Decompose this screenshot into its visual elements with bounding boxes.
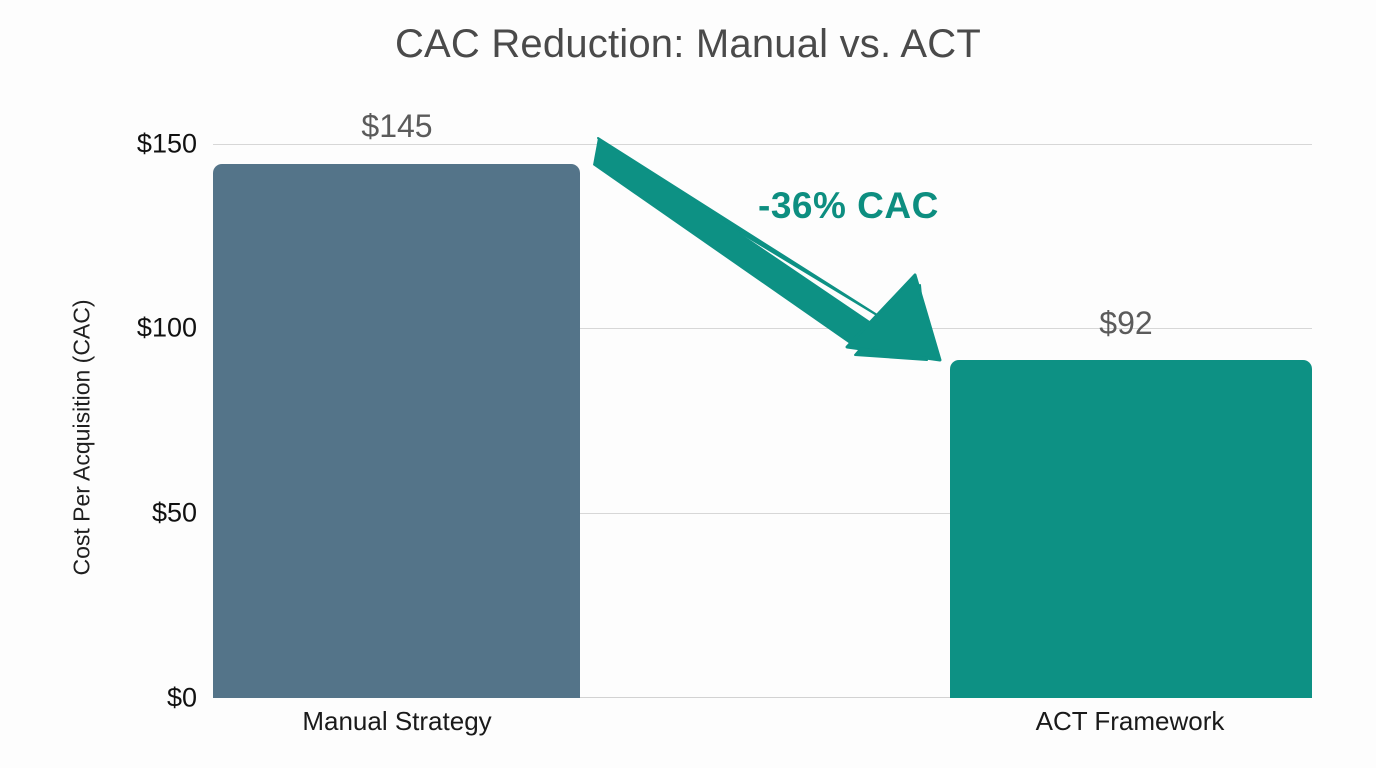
y-tick-label-50: $50 <box>93 498 197 529</box>
y-axis-title: Cost Per Acquisition (CAC) <box>69 158 96 718</box>
x-category-label-act: ACT Framework <box>1036 706 1225 737</box>
annotation-label-cac-reduction: -36% CAC <box>758 185 939 227</box>
chart-title: CAC Reduction: Manual vs. ACT <box>0 22 1376 67</box>
y-tick-label-150: $150 <box>93 129 197 160</box>
y-tick-label-100: $100 <box>93 313 197 344</box>
bar-value-label-act: $92 <box>1099 305 1152 342</box>
bar-act-framework[interactable] <box>950 360 1312 698</box>
y-tick-label-0: $0 <box>93 683 197 714</box>
x-category-label-manual: Manual Strategy <box>302 706 491 737</box>
bar-manual-strategy[interactable] <box>213 164 580 698</box>
bar-value-label-manual: $145 <box>361 108 432 145</box>
plot-area <box>213 144 1312 698</box>
chart-container: CAC Reduction: Manual vs. ACT Cost Per A… <box>0 0 1376 768</box>
